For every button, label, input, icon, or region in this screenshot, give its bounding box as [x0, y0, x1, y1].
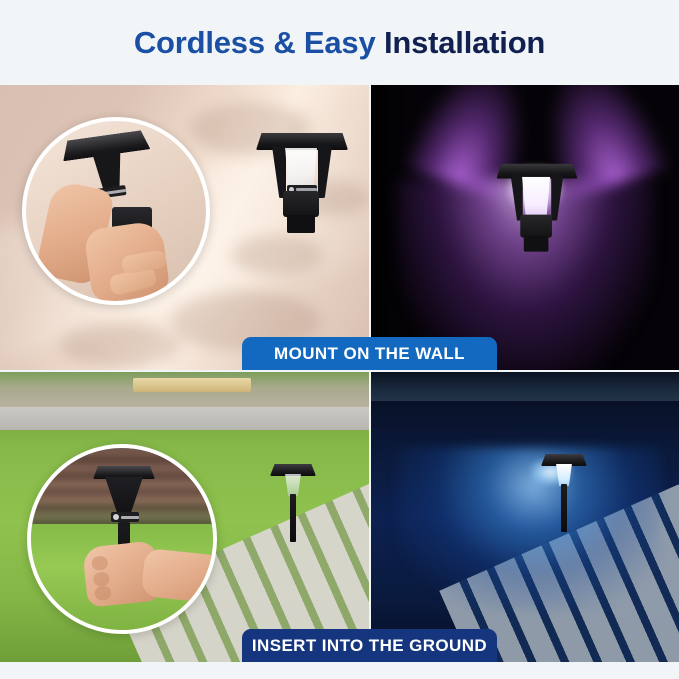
- lamp-glass-diffuser-lit: [518, 177, 555, 217]
- callout-circle-ground-install: [27, 444, 217, 634]
- caption-banner-mount-on-the-wall: MOUNT ON THE WALL: [242, 337, 497, 370]
- title-part-and-easy: & Easy: [273, 25, 375, 60]
- staked-solar-path-light-lit: [541, 454, 587, 532]
- panel-ground-install-daylight: [0, 372, 369, 662]
- brand-wordmark: [121, 516, 139, 519]
- leaf-shadow-icon: [60, 323, 180, 367]
- brand-logo-badge: [111, 512, 139, 522]
- title-part-installation: Installation: [384, 25, 545, 60]
- panel-wall-light-night-purple: [371, 85, 679, 370]
- background-walkway: [0, 407, 369, 430]
- brand-mark-icon: [113, 514, 119, 520]
- knuckle: [91, 555, 108, 571]
- ground-stake: [561, 484, 567, 532]
- title-part-cordless: Cordless: [134, 25, 265, 60]
- staked-solar-path-light: [270, 464, 316, 542]
- lamp-arm-right: [551, 175, 563, 221]
- caption-banner-insert-into-the-ground: INSERT INTO THE GROUND: [242, 629, 497, 662]
- solar-panel-hood: [256, 133, 348, 150]
- wall-mounted-solar-light-lit: [495, 164, 579, 261]
- lamp-arm-right: [318, 146, 332, 198]
- knuckle: [94, 585, 111, 601]
- panel-ground-light-night-blue: [371, 372, 679, 662]
- wall-mounted-solar-light: [254, 133, 350, 243]
- lamp-glass-diffuser-lit: [553, 464, 575, 486]
- callout-circle-wall-install: [22, 117, 210, 305]
- header: Cordless & Easy Installation: [0, 0, 679, 85]
- knuckle: [93, 571, 110, 587]
- lamp-glass-diffuser: [282, 474, 304, 496]
- panel-wall-install-daylight: [0, 85, 369, 370]
- lamp-body: [520, 215, 552, 238]
- lamp-arm-left: [272, 146, 286, 198]
- background-walkway-night: [371, 372, 679, 401]
- wall-mount-bracket: [287, 215, 315, 233]
- product-infographic: Cordless & Easy Installation: [0, 0, 679, 679]
- page-title: Cordless & Easy Installation: [134, 25, 545, 61]
- panel-grid: [0, 85, 679, 662]
- lamp-body: [283, 191, 319, 217]
- forearm: [141, 548, 217, 604]
- solar-panel-hood: [497, 164, 578, 179]
- lamp-cone-shade: [105, 477, 143, 513]
- ground-stake: [290, 494, 296, 542]
- blue-light-pool: [396, 447, 661, 609]
- background-bench: [133, 378, 251, 393]
- wall-mount-bracket: [524, 236, 549, 252]
- night-lawn-scene: [371, 372, 679, 662]
